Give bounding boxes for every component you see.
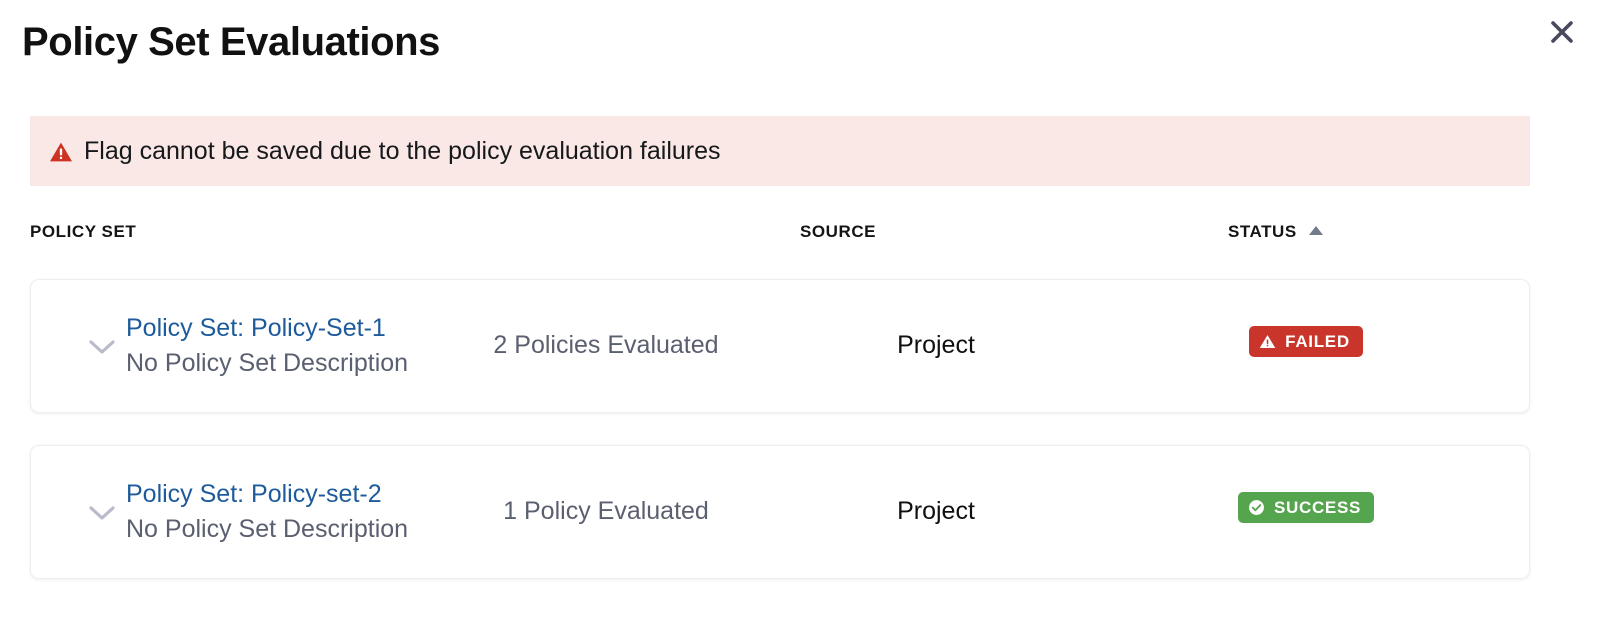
close-icon (1549, 19, 1575, 45)
policies-evaluated-count: 2 Policies Evaluated (456, 328, 756, 363)
close-dialog-button[interactable] (1544, 14, 1580, 50)
warning-triangle-icon (1259, 333, 1276, 350)
status-badge-label: FAILED (1285, 332, 1350, 352)
policy-set-source: Project (801, 328, 1071, 363)
policy-set-info: Policy Set: Policy-set-2 No Policy Set D… (126, 477, 456, 547)
page-title: Policy Set Evaluations (22, 17, 440, 67)
column-header-status[interactable]: STATUS (1228, 222, 1323, 242)
policy-set-description: No Policy Set Description (126, 512, 456, 547)
warning-triangle-icon (49, 140, 73, 164)
status-badge: FAILED (1249, 326, 1363, 357)
status-cell: FAILED (1161, 326, 1451, 357)
status-cell: SUCCESS (1161, 492, 1451, 523)
column-header-policy-set[interactable]: POLICY SET (30, 222, 136, 242)
policy-set-source: Project (801, 494, 1071, 529)
policy-set-link[interactable]: Policy Set: Policy-Set-1 (126, 311, 456, 346)
dialog-header: Policy Set Evaluations (0, 0, 1600, 92)
check-circle-icon (1248, 499, 1265, 516)
caret-up-icon (1309, 226, 1323, 235)
status-badge: SUCCESS (1238, 492, 1374, 523)
table-row[interactable]: Policy Set: Policy-Set-1 No Policy Set D… (30, 279, 1530, 413)
column-header-status-label: STATUS (1228, 222, 1297, 242)
alert-message: Flag cannot be saved due to the policy e… (84, 136, 721, 166)
policies-evaluated-count: 1 Policy Evaluated (456, 494, 756, 529)
chevron-down-icon[interactable] (83, 330, 121, 364)
chevron-down-icon[interactable] (83, 496, 121, 530)
status-badge-label: SUCCESS (1274, 498, 1361, 518)
policy-set-link[interactable]: Policy Set: Policy-set-2 (126, 477, 456, 512)
policy-set-info: Policy Set: Policy-Set-1 No Policy Set D… (126, 311, 456, 381)
table-header-row: POLICY SET SOURCE STATUS (0, 210, 1600, 256)
table-row[interactable]: Policy Set: Policy-set-2 No Policy Set D… (30, 445, 1530, 579)
column-header-source[interactable]: SOURCE (800, 222, 876, 242)
policy-set-list: Policy Set: Policy-Set-1 No Policy Set D… (30, 279, 1530, 611)
policy-set-description: No Policy Set Description (126, 346, 456, 381)
policy-failure-alert: Flag cannot be saved due to the policy e… (30, 116, 1530, 186)
